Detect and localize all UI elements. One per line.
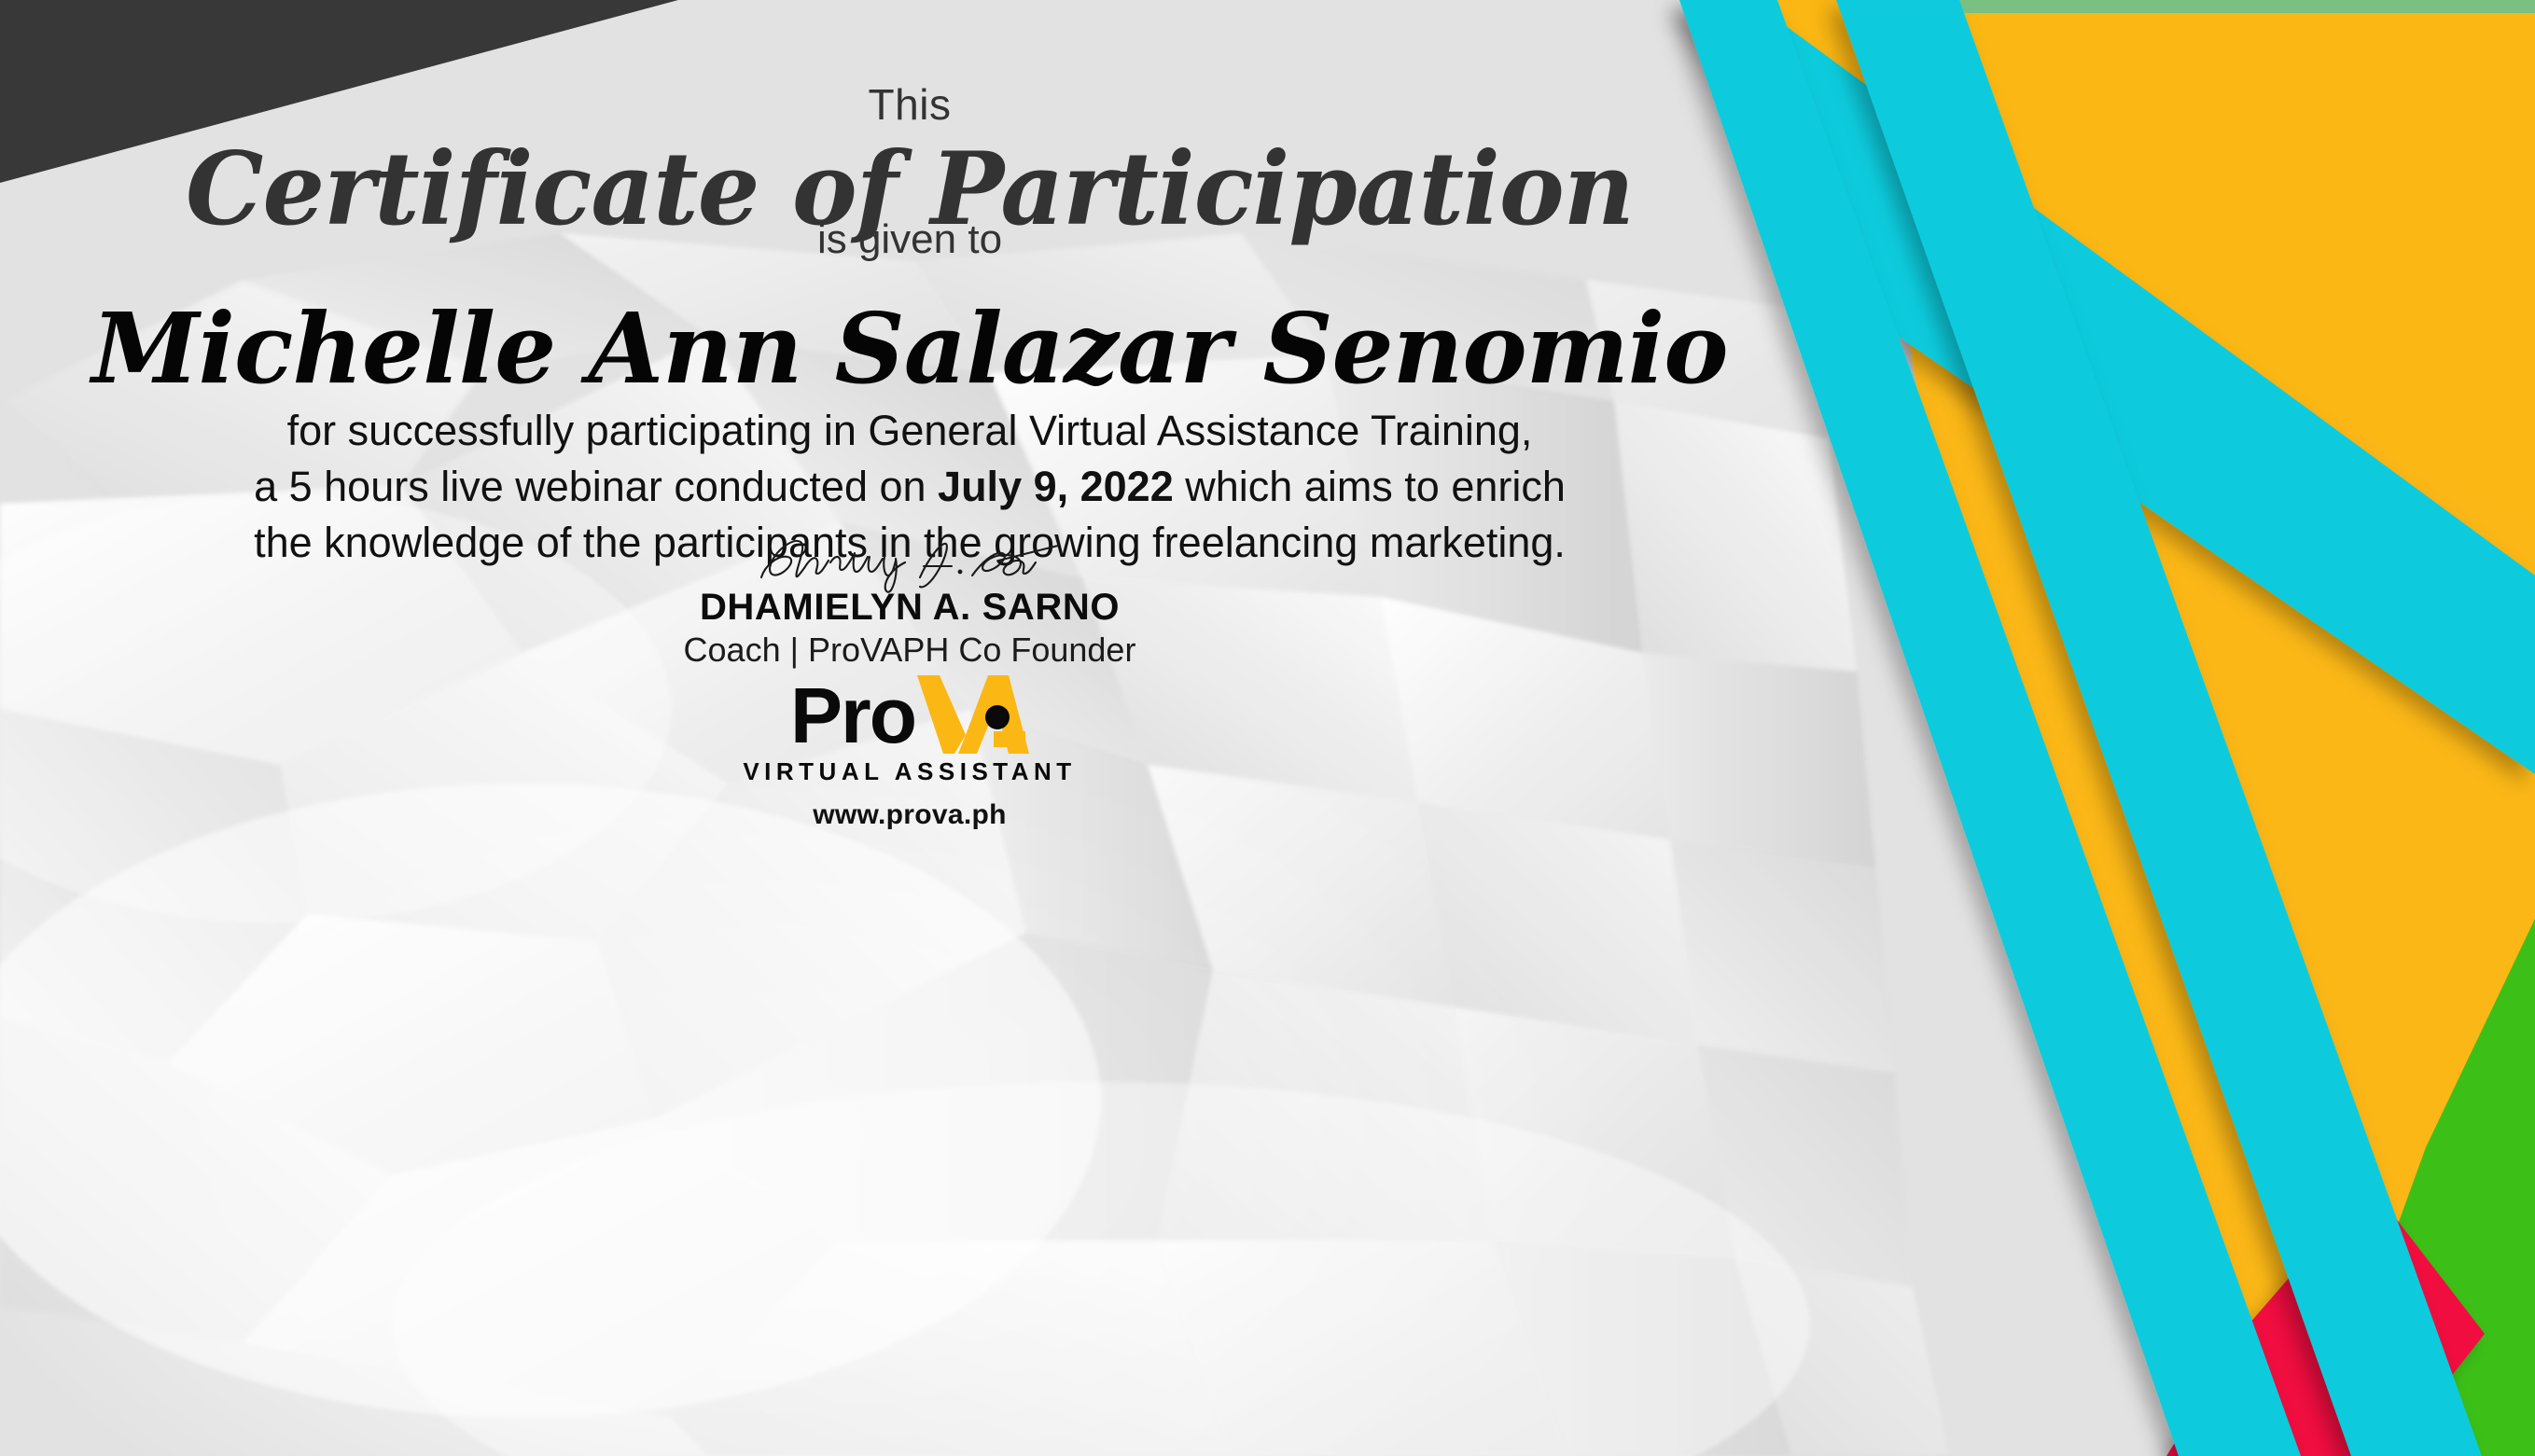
given-to-label: is given to xyxy=(0,216,1819,263)
recipient-name: Michelle Ann Salazar Senomio xyxy=(0,291,1819,406)
logo-website: www.prova.ph xyxy=(813,799,1007,831)
signature-icon xyxy=(756,534,1064,592)
citation-line-2-after: which aims to enrich xyxy=(1174,463,1566,510)
logo-va-icon xyxy=(915,673,1029,754)
signatory-name: DHAMIELYN A. SARNO xyxy=(700,587,1120,629)
event-date: July 9, 2022 xyxy=(938,463,1174,510)
citation-line-2-before: a 5 hours live webinar conducted on xyxy=(254,463,938,510)
logo-tagline: VIRTUAL ASSISTANT xyxy=(743,757,1076,786)
signature-block: DHAMIELYN A. SARNO Coach | ProVAPH Co Fo… xyxy=(0,534,1819,670)
citation-line-1: for successfully participating in Genera… xyxy=(0,403,1819,459)
certificate-canvas: This Certificate of Participation is giv… xyxy=(0,0,2535,1456)
logo-wordmark: Pro xyxy=(790,673,1029,754)
certificate-content: This Certificate of Participation is giv… xyxy=(0,0,1819,1456)
citation-line-2: a 5 hours live webinar conducted on July… xyxy=(0,459,1819,515)
cyan-top-edge-sliver xyxy=(1852,0,2535,13)
signatory-role: Coach | ProVAPH Co Founder xyxy=(684,631,1136,670)
intro-text: This xyxy=(0,79,1819,130)
logo-pro-text: Pro xyxy=(790,679,915,754)
prova-logo: Pro VIRTUAL ASSISTANT ww xyxy=(0,673,1819,831)
